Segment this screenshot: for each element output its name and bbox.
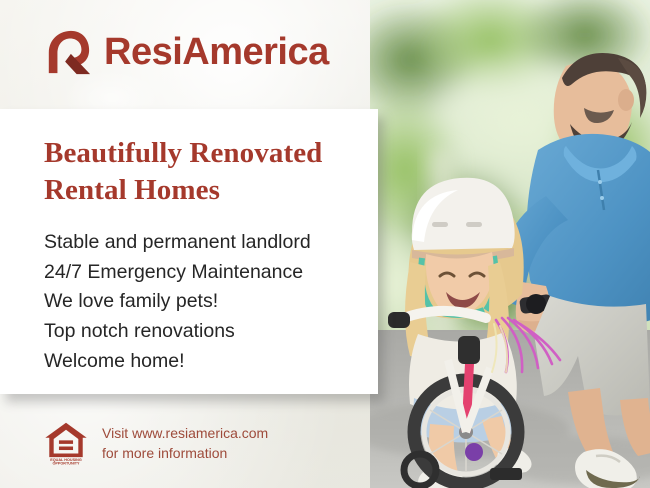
footer: EQUAL HOUSING OPPORTUNITY Visit www.resi… <box>44 420 268 466</box>
brand-name: ResiAmerica <box>104 33 329 71</box>
brand-logo[interactable]: ResiAmerica <box>44 28 329 76</box>
list-item: Welcome home! <box>44 347 350 377</box>
footer-info-line: for more information <box>102 443 268 463</box>
resiamerica-r-monogram-icon <box>44 28 92 76</box>
list-item: We love family pets! <box>44 287 350 317</box>
page-title: Beautifully Renovated Rental Homes <box>44 135 350 208</box>
list-item: 24/7 Emergency Maintenance <box>44 258 350 288</box>
equal-housing-opportunity-icon: EQUAL HOUSING OPPORTUNITY <box>44 420 88 466</box>
advertisement-banner: ResiAmerica Beautifully Renovated Rental… <box>0 0 650 488</box>
list-item: Top notch renovations <box>44 317 350 347</box>
headline-line-2: Rental Homes <box>44 172 350 209</box>
list-item: Stable and permanent landlord <box>44 228 350 258</box>
headline-line-1: Beautifully Renovated <box>44 135 350 172</box>
message-card: Beautifully Renovated Rental Homes Stabl… <box>0 109 378 394</box>
footer-contact-text: Visit www.resiamerica.com for more infor… <box>102 423 268 464</box>
eho-badge-line-2: OPPORTUNITY <box>53 462 80 466</box>
feature-list: Stable and permanent landlord 24/7 Emerg… <box>44 228 350 376</box>
family-bicycle-photo <box>370 0 650 488</box>
footer-website-line: Visit www.resiamerica.com <box>102 423 268 443</box>
